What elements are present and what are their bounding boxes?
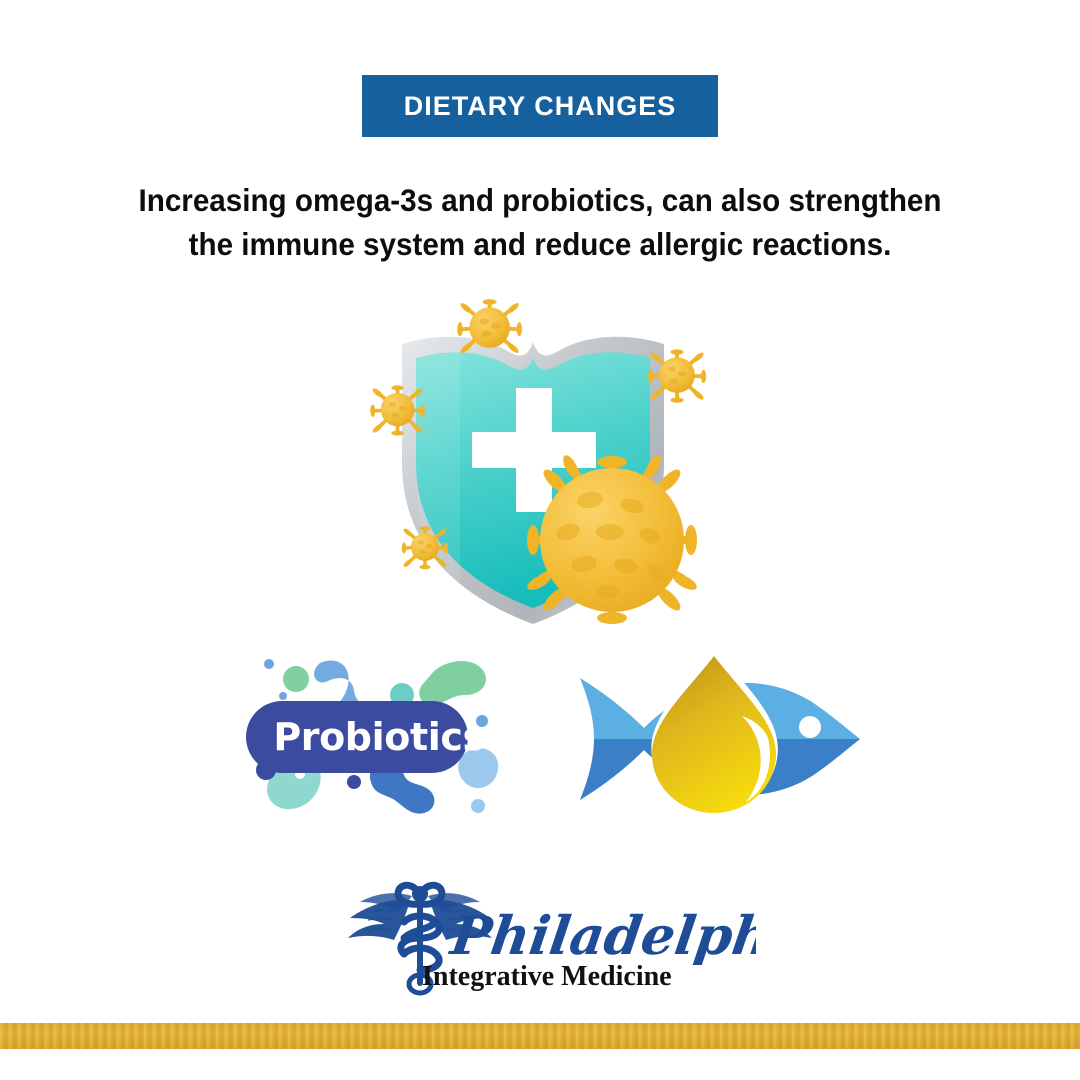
virus-particle-large bbox=[525, 453, 699, 624]
subtitle-text: Increasing omega-3s and probiotics, can … bbox=[117, 178, 963, 266]
brand-script-text: Philadelphia bbox=[445, 904, 756, 967]
brand-sub-text: Integrative Medicine bbox=[422, 961, 672, 992]
brand-logo: Philadelphia Integrative Medicine bbox=[332, 876, 756, 998]
oil-droplet-icon bbox=[652, 656, 776, 813]
page-title: DIETARY CHANGES bbox=[404, 91, 677, 122]
footer-gold-bar bbox=[0, 1023, 1080, 1049]
header-banner: DIETARY CHANGES bbox=[362, 75, 718, 137]
omega3-fish-illustration bbox=[568, 650, 874, 825]
probiotics-pill bbox=[246, 701, 468, 773]
immune-shield-illustration bbox=[370, 288, 714, 643]
virus-particle-lower-left bbox=[402, 526, 449, 569]
virus-particle-right bbox=[648, 349, 706, 402]
virus-particle-top bbox=[457, 299, 522, 354]
probiotics-illustration bbox=[238, 643, 530, 828]
virus-particle-left bbox=[370, 385, 425, 435]
fish-eye-icon bbox=[799, 716, 821, 738]
